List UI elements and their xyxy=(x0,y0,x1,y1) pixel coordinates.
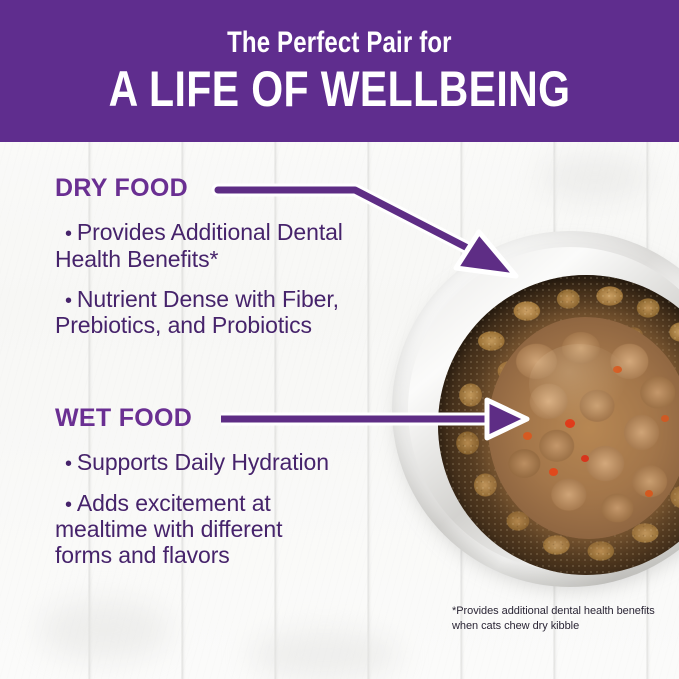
dry-food-title: DRY FOOD xyxy=(55,176,375,201)
bowl-inner-rim xyxy=(408,247,679,571)
vegetable-bit xyxy=(661,415,669,422)
wet-food-callout: WET FOOD •Supports Daily Hydration •Adds… xyxy=(55,406,335,582)
wet-food-title: WET FOOD xyxy=(55,406,335,431)
list-item: •Supports Daily Hydration xyxy=(55,449,335,476)
list-item-label: Nutrient Dense with Fiber, Prebiotics, a… xyxy=(55,286,339,339)
dry-food-callout: DRY FOOD •Provides Additional Dental Hea… xyxy=(55,176,375,352)
bullet-dot: • xyxy=(55,453,77,475)
bullet-dot: • xyxy=(55,290,77,312)
gravy-highlight xyxy=(529,344,630,424)
list-item: •Nutrient Dense with Fiber, Prebiotics, … xyxy=(55,286,375,339)
bullet-dot: • xyxy=(55,223,77,245)
wet-food-center xyxy=(488,317,679,539)
background-blotch xyxy=(540,155,650,200)
bowl-contents xyxy=(438,275,679,575)
header-title: A LIFE OF WELLBEING xyxy=(109,64,571,114)
header-banner: The Perfect Pair for A LIFE OF WELLBEING xyxy=(0,0,679,142)
dry-food-bullet-list: •Provides Additional Dental Health Benef… xyxy=(55,219,375,338)
promo-graphic: The Perfect Pair for A LIFE OF WELLBEING xyxy=(0,0,679,679)
list-item-label: Adds excitement at mealtime with differe… xyxy=(55,490,282,569)
header-subtitle: The Perfect Pair for xyxy=(227,28,452,58)
bowl-outer-rim xyxy=(392,231,679,587)
list-item-label: Provides Additional Dental Health Benefi… xyxy=(55,219,343,272)
list-item: •Provides Additional Dental Health Benef… xyxy=(55,219,375,272)
background-blotch xyxy=(250,630,400,679)
vegetable-bit xyxy=(549,468,558,476)
list-item: •Adds excitement at mealtime with differ… xyxy=(55,490,335,569)
bullet-dot: • xyxy=(55,494,77,516)
footnote-text: *Provides additional dental health benef… xyxy=(452,604,667,633)
list-item-label: Supports Daily Hydration xyxy=(77,449,329,475)
cat-food-bowl-photo xyxy=(392,231,679,591)
wet-food-bullet-list: •Supports Daily Hydration •Adds exciteme… xyxy=(55,449,335,568)
vegetable-bit xyxy=(645,490,653,497)
background-blotch xyxy=(40,600,170,660)
vegetable-bit xyxy=(581,455,589,462)
vegetable-bit xyxy=(523,432,532,440)
